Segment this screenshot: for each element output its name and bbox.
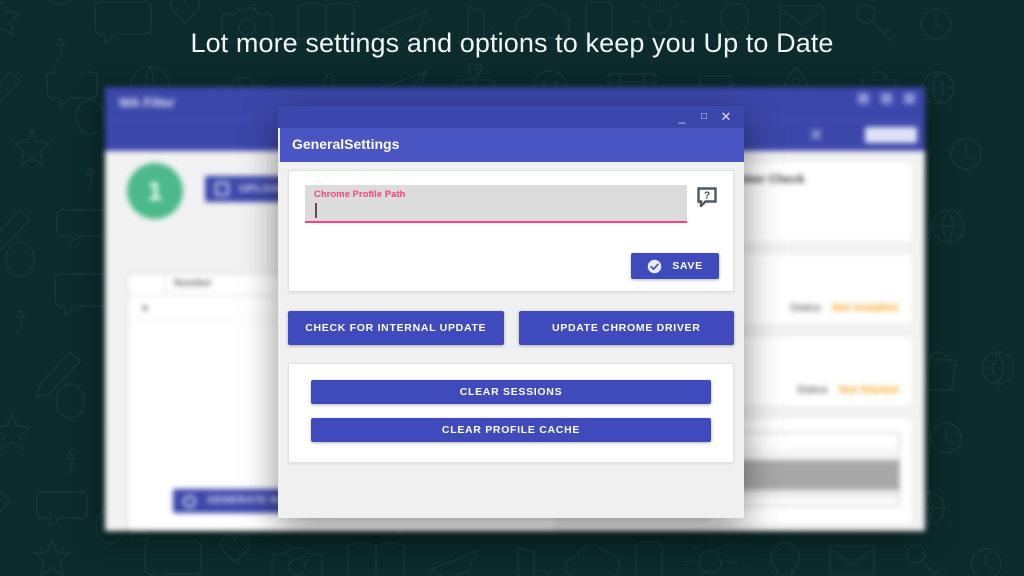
app-minimize-icon[interactable] [858,93,869,104]
status-badge: Not Installed [832,302,898,314]
clear-actions-card: CLEAR SESSIONS CLEAR PROFILE CACHE [288,363,734,463]
row-marker-icon [142,305,148,311]
minimize-icon[interactable]: _ [672,106,692,128]
step-number-badge: 1 [127,163,183,219]
find-button[interactable] [865,127,917,143]
status-label: Status [796,384,827,396]
app-title: WA Filter [119,95,175,110]
log-row-selected [721,460,899,490]
check-circle-icon [647,259,662,274]
dialog-title: GeneralSettings [292,136,399,152]
maximize-icon[interactable]: □ [694,106,714,128]
profile-path-card: Chrome Profile Path ? SAVE [288,170,734,292]
clear-profile-cache-button[interactable]: CLEAR PROFILE CACHE [311,418,711,442]
log-box[interactable] [720,432,900,506]
log-row [721,448,899,460]
column-divider [164,274,165,295]
close-icon[interactable]: ✕ [716,106,736,128]
status-label: Status [790,302,821,314]
clear-sessions-button[interactable]: CLEAR SESSIONS [311,380,711,404]
chrome-profile-path-input[interactable] [305,199,687,223]
profile-path-field-group: Chrome Profile Path [305,185,687,225]
check-internal-update-button[interactable]: CHECK FOR INTERNAL UPDATE [288,311,504,345]
card-title: Number Check [720,172,900,186]
svg-text:?: ? [704,191,710,202]
generate-icon [183,495,196,508]
status-row: Status Not Started [796,384,898,396]
log-row [721,433,899,448]
help-bubble-icon[interactable]: ? [697,187,717,207]
status-row: Status Not Installed [790,302,898,314]
dialog-titlebar: GeneralSettings [278,128,744,162]
save-button[interactable]: SAVE [631,253,719,279]
dialog-window-controls-bar: _ □ ✕ [278,106,744,128]
app-maximize-icon[interactable] [881,93,892,104]
update-chrome-driver-button[interactable]: UPDATE CHROME DRIVER [519,311,735,345]
upload-icon [215,182,229,196]
general-settings-dialog: _ □ ✕ GeneralSettings Chrome Profile Pat… [278,106,744,518]
status-badge: Not Started [839,384,898,396]
page-title: Lot more settings and options to keep yo… [0,28,1024,59]
table-column-number: Number [174,278,212,289]
log-row [721,490,899,499]
shuffle-icon[interactable]: ✕ [805,124,827,146]
app-close-icon[interactable] [904,93,915,104]
update-button-row: CHECK FOR INTERNAL UPDATE UPDATE CHROME … [288,311,734,345]
save-button-label: SAVE [672,260,703,272]
dialog-body: Chrome Profile Path ? SAVE [278,162,744,518]
